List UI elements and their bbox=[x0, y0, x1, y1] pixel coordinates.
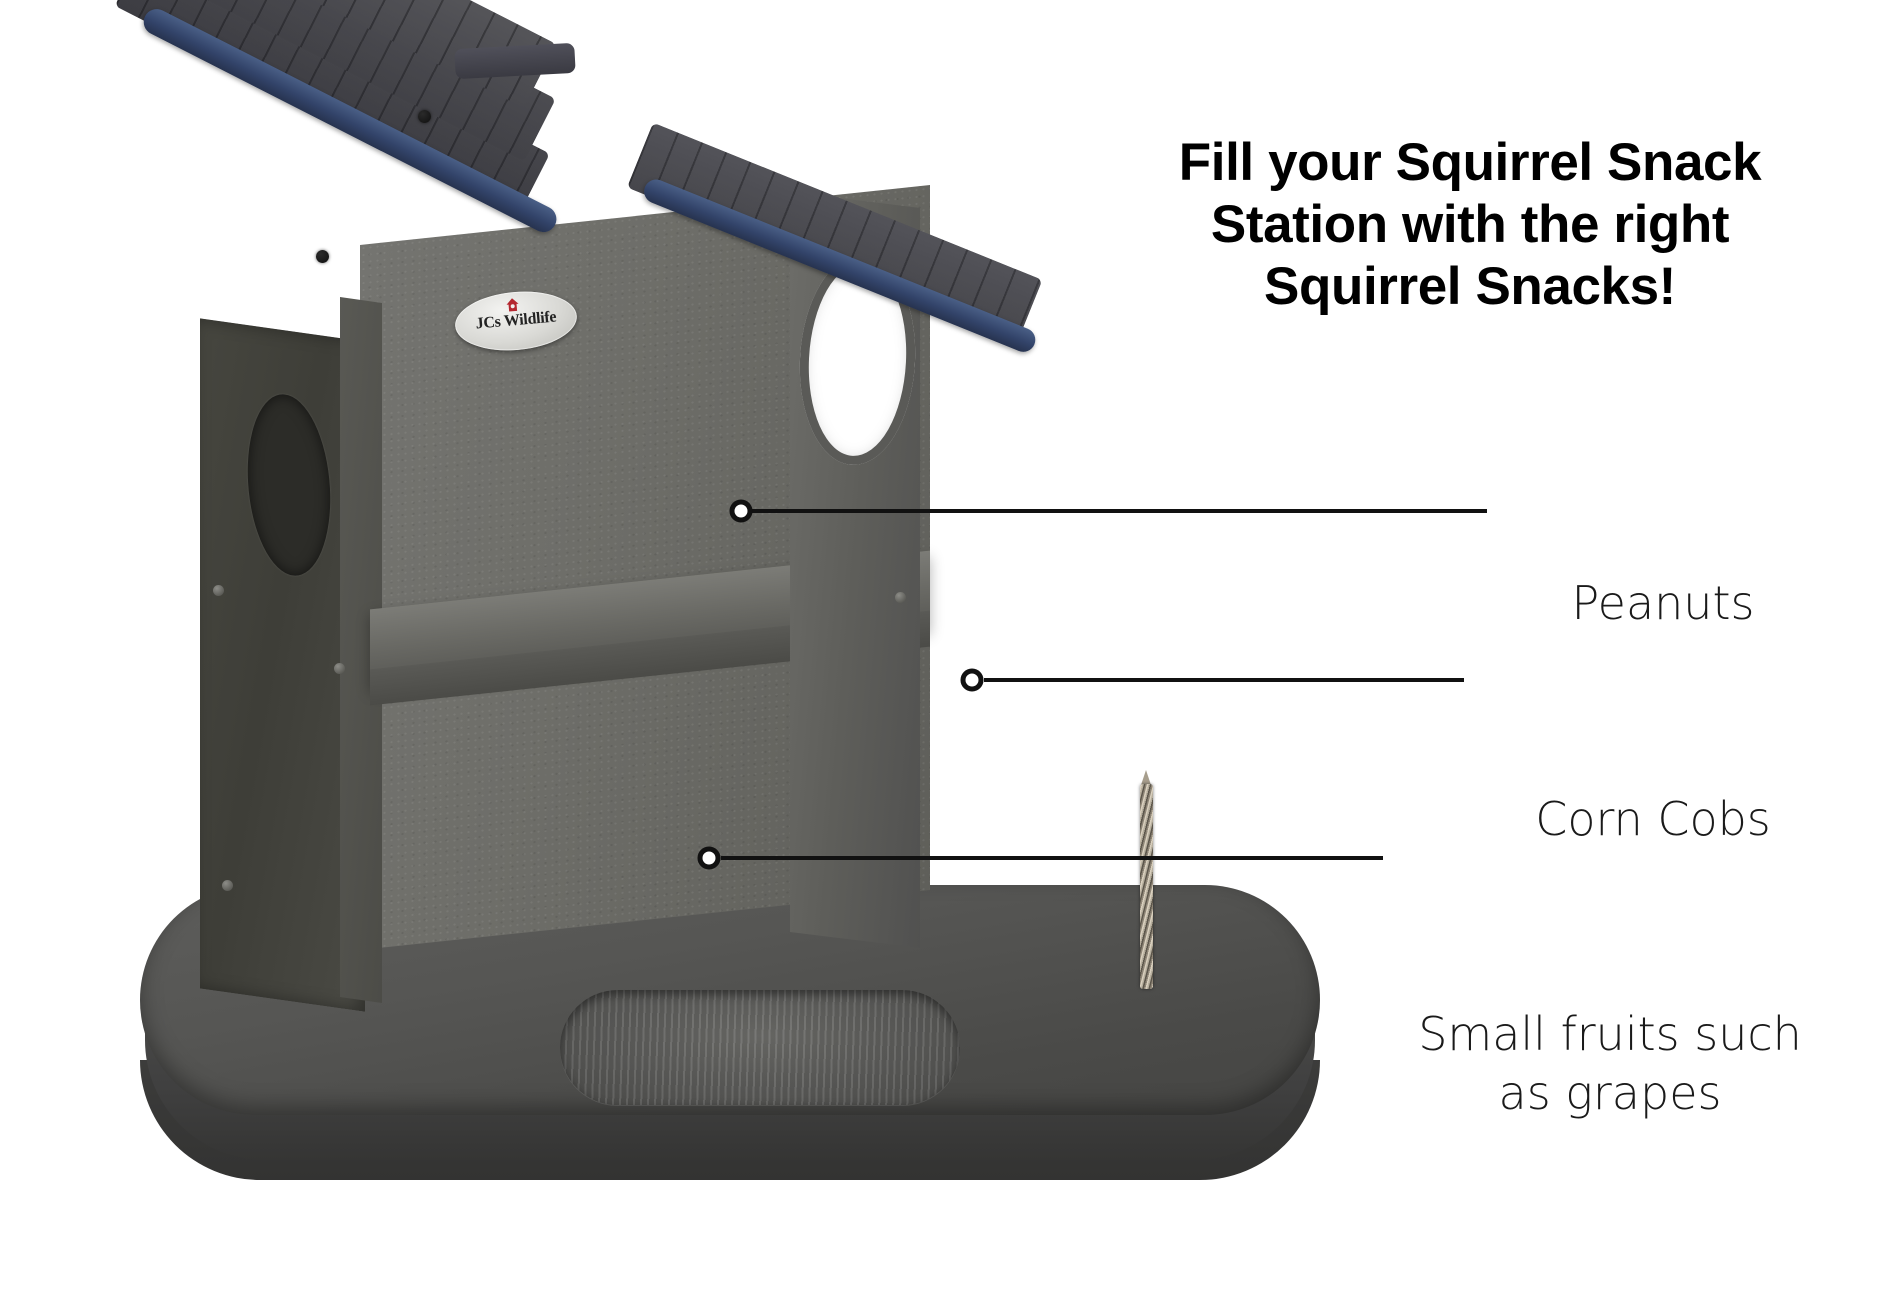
product-image-squirrel-snack-station: JCs Wildlife bbox=[0, 0, 1200, 1300]
headline-line-2: Station with the right bbox=[1120, 194, 1820, 256]
infographic-canvas: JCs Wildlife Fill your Squirrel Snack St… bbox=[0, 0, 1900, 1300]
panel-screw-icon bbox=[213, 585, 224, 596]
roof-screw-icon bbox=[418, 110, 431, 123]
callout-label-peanuts: Peanuts bbox=[1513, 574, 1813, 633]
panel-screw-icon bbox=[222, 880, 233, 891]
brand-badge-text: JCs Wildlife bbox=[475, 309, 557, 334]
roof-screw-icon bbox=[316, 250, 329, 263]
headline-line-3: Squirrel Snacks! bbox=[1120, 256, 1820, 318]
headline-line-1: Fill your Squirrel Snack bbox=[1120, 132, 1820, 194]
headline: Fill your Squirrel Snack Station with th… bbox=[1120, 132, 1820, 318]
birdhouse-icon bbox=[505, 298, 520, 313]
panel-screw-icon bbox=[895, 592, 906, 603]
roof-ridge-cap bbox=[454, 43, 575, 79]
callout-label-corn-cobs: Corn Cobs bbox=[1483, 790, 1823, 849]
panel-screw-icon bbox=[334, 663, 345, 674]
callout-label-small-fruits: Small fruits such as grapes bbox=[1400, 1005, 1820, 1123]
corn-cob-spike bbox=[1140, 784, 1153, 989]
seed-dish-recess bbox=[560, 990, 960, 1105]
